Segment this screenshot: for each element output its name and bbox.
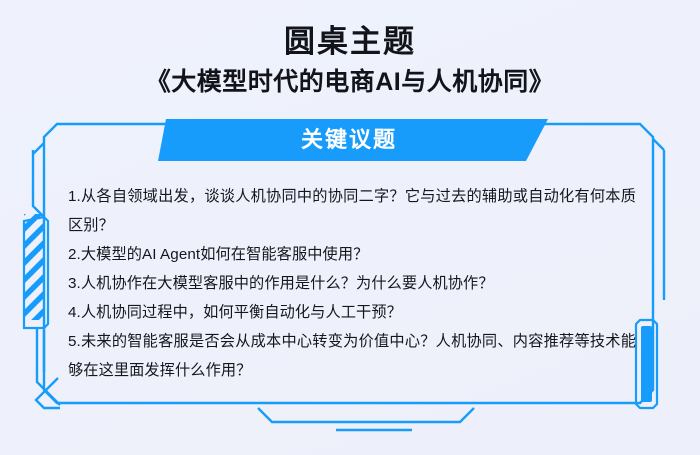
right-bar-fill — [641, 326, 652, 402]
page-title: 圆桌主题 — [0, 22, 700, 62]
frame-left-upper-accent — [33, 150, 44, 217]
agenda-item: 3.人机协作在大模型客服中的作用是什么？为什么要人机协作？ — [68, 269, 636, 298]
frame-left-cross-b — [36, 378, 60, 408]
agenda-item: 5.未来的智能客服是否会从成本中心转变为价值中心？人机协同、内容推荐等技术能够在… — [68, 327, 636, 385]
section-banner: 关键议题 — [158, 119, 548, 161]
frame-left-cross-a — [37, 328, 60, 405]
agenda-list: 1.从各自领域出发，谈谈人机协同中的协同二字？它与过去的辅助或自动化有何本质区别… — [68, 182, 636, 385]
frame-right-chamfer-accent — [653, 139, 664, 150]
left-bar-hatch — [10, 180, 56, 396]
slide-root: 圆桌主题 《大模型时代的电商AI与人机协同》 — [0, 0, 700, 455]
section-banner-label: 关键议题 — [301, 119, 397, 161]
agenda-item: 1.从各自领域出发，谈谈人机协同中的协同二字？它与过去的辅助或自动化有何本质区别… — [68, 182, 636, 240]
title-block: 圆桌主题 《大模型时代的电商AI与人机协同》 — [0, 22, 700, 100]
left-bar-outline — [24, 217, 48, 328]
page-subtitle: 《大模型时代的电商AI与人机协同》 — [0, 64, 700, 100]
right-bar-outline — [636, 320, 657, 408]
agenda-item: 2.大模型的AI Agent如何在智能客服中使用？ — [68, 240, 636, 269]
frame-bottom-flourish — [258, 408, 474, 422]
agenda-item: 4.人机协同过程中，如何平衡自动化与人工干预？ — [68, 298, 636, 327]
frame-left-chamfer-accent — [33, 143, 44, 154]
